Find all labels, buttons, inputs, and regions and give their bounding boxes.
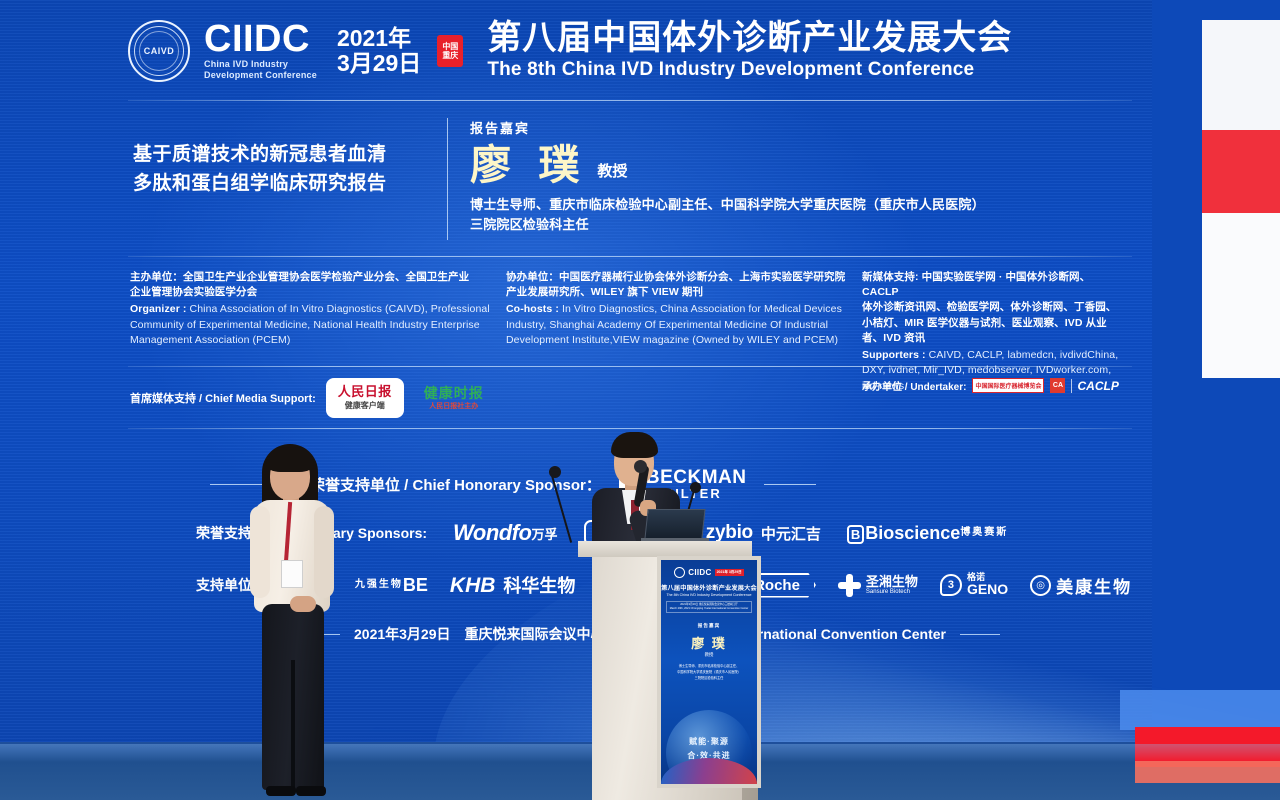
poster-date-badge: 2021年 3月29日 xyxy=(715,569,744,576)
geno-text: 格诺 GENO xyxy=(967,573,1008,597)
woman-hands xyxy=(290,596,316,612)
organizer-en-prefix: Organizer : xyxy=(130,303,187,315)
speaker-bio: 博士生导师、重庆市临床检验中心副主任、中国科学院大学重庆医院（重庆市人民医院） … xyxy=(470,195,1140,234)
poster-title-en: The 8th China IVD Industry Development C… xyxy=(666,593,751,597)
poster-brand: CIIDC xyxy=(688,568,711,577)
poster-guest-label: 报告嘉宾 xyxy=(698,623,720,629)
undertaker-label: 承办单位 / Undertaker: xyxy=(862,378,966,393)
info-columns: 主办单位：全国卫生产业企业管理协会医学检验产业分会、全国卫生产业 企业管理协会实… xyxy=(130,270,1140,394)
logo-wondfo: Wondfo 万孚 xyxy=(453,522,557,544)
podium-laptop-screen xyxy=(644,509,705,539)
sansure-sub: Sansure Biotech xyxy=(866,589,918,595)
logo-peoples-daily: 人民日报 健康客户端 xyxy=(326,378,404,418)
bioscience-name: BBioscience xyxy=(847,524,960,543)
supporters-cn-line1: 新媒体支持: 中国实验医学网 · 中国体外诊断网、CACLP xyxy=(862,270,1124,300)
poster-title-cn: 第八届中国体外诊断产业发展大会 xyxy=(661,583,757,592)
brand-block: CIIDC China IVD Industry Development Con… xyxy=(204,21,317,82)
venue-date: 2021年3月29日 xyxy=(354,624,451,644)
right-panel-white-bottom xyxy=(1202,213,1280,378)
sponsor-rule-left-1 xyxy=(210,484,262,485)
china-badge-line1: 中国 xyxy=(442,42,458,51)
logo-khb: KHB 科华生物 xyxy=(450,572,576,598)
divider-under-media xyxy=(128,428,1132,429)
cohosts-en: Co-hosts : In Vitro Diagnostics, China A… xyxy=(506,302,846,348)
poster-venue: 2021年3月29日 重庆悦来国际会议中心三楼两江厅 March 29th, 2… xyxy=(666,601,753,613)
logo-peoples-daily-name: 人民日报 xyxy=(338,385,392,399)
conference-day: 3月29日 xyxy=(337,51,421,76)
desk-microphone-right-head xyxy=(690,482,701,493)
bioscience-mark-icon: B xyxy=(847,525,864,544)
vertical-divider xyxy=(447,118,448,240)
wondfo-sub: 万孚 xyxy=(531,528,557,541)
zybio-sub: 中元汇吉 xyxy=(761,523,821,544)
sansure-cross-icon xyxy=(838,574,861,597)
speaker-name-row: 廖 璞 教授 xyxy=(470,145,1140,186)
caivd-seal-icon: CAIVD xyxy=(128,20,190,82)
talk-title-line1: 基于质谱技术的新冠患者血清 xyxy=(133,140,443,169)
speaker-bio-line2: 三院院区检验科主任 xyxy=(470,215,1140,235)
cohosts-cn-line1: 协办单位：中国医疗器械行业协会体外诊断分会、上海市实验医学研究院 xyxy=(506,270,846,285)
medicalsystem-name: 美康生物 xyxy=(1056,573,1132,598)
logo-caclp-mark: CA xyxy=(1050,378,1065,393)
organizer-cn-line2: 企业管理协会实验医学分会 xyxy=(130,285,490,300)
poster-venue-en: March 29th, 2021 Chongqing Yuelai Intern… xyxy=(670,607,749,611)
woman-arm-left xyxy=(250,506,270,598)
china-badge-line2: 重庆 xyxy=(442,51,458,60)
organizer-en: Organizer : China Association of In Vitr… xyxy=(130,302,490,348)
poster-slogan-line1: 赋能·聚源 xyxy=(661,736,757,747)
woman-name-badge xyxy=(281,560,303,588)
talk-title-line2: 多肽和蛋白组学临床研究报告 xyxy=(133,169,443,198)
supporters-cn-line2: 体外诊断资讯网、检验医学网、体外诊断网、丁香园、小桔灯、MIR 医学仪器与试剂、… xyxy=(862,300,1124,346)
poster-bio: 博士生导师、重庆市临床检验中心副主任、 中国科学院大学重庆医院（重庆市人民医院）… xyxy=(673,664,745,682)
logo-peoples-daily-sub: 健康客户端 xyxy=(345,402,385,411)
brand-subtitle: China IVD Industry Development Conferenc… xyxy=(204,59,317,82)
woman-shoe-left xyxy=(266,786,296,796)
conference-stage-photo: CAIVD CIIDC China IVD Industry Developme… xyxy=(0,0,1280,800)
brand-subtitle-line2: Development Conference xyxy=(204,70,317,81)
speaker-block: 报告嘉宾 廖 璞 教授 博士生导师、重庆市临床检验中心副主任、中国科学院大学重庆… xyxy=(470,118,1140,234)
geno-name: GENO xyxy=(967,582,1008,597)
logo-health-times: 健康时报 人民日报社主办 xyxy=(414,378,494,418)
man-hair xyxy=(611,432,658,458)
logo-geno: 3 格诺 GENO xyxy=(940,573,1008,597)
bioscience-name-text: Bioscience xyxy=(865,523,960,543)
brand-abbreviation: CIIDC xyxy=(204,21,317,57)
chief-media-support-label: 首席媒体支持 / Chief Media Support: xyxy=(130,390,316,406)
undertaker-row: 承办单位 / Undertaker: 中国国际医疗器械博览会 CA CACLP xyxy=(862,378,1119,393)
khb-name: KHB xyxy=(450,574,496,598)
venue-rule-right xyxy=(960,634,1000,635)
right-panel-white-top xyxy=(1202,20,1280,130)
right-band-blue xyxy=(1120,690,1280,730)
conference-header: CAIVD CIIDC China IVD Industry Developme… xyxy=(128,12,1128,90)
caivd-seal-text: CAIVD xyxy=(144,46,175,56)
bsbe-name: BE xyxy=(403,576,428,595)
supporters-en-prefix: Supporters : xyxy=(862,349,926,361)
logo-bioscience: BBioscience 博奥赛斯 xyxy=(847,524,1008,543)
logo-sansure: 圣湘生物 Sansure Biotech xyxy=(838,574,918,597)
divider-under-header xyxy=(128,100,1132,101)
woman-hair-front xyxy=(266,446,314,472)
logo-cmef-badge: 中国国际医疗器械博览会 xyxy=(972,378,1044,393)
right-panel-red xyxy=(1202,130,1280,213)
bsbe-sub: 九强生物 xyxy=(355,580,403,591)
podium-digital-poster: CIIDC 2021年 3月29日 第八届中国体外诊断产业发展大会 The 8t… xyxy=(657,556,761,788)
logo-bsbe: 九强生物 BE xyxy=(355,576,428,595)
info-column-organizer: 主办单位：全国卫生产业企业管理协会医学检验产业分会、全国卫生产业 企业管理协会实… xyxy=(130,270,506,394)
sansure-name: 圣湘生物 xyxy=(866,575,918,589)
geno-mark-icon: 3 xyxy=(940,574,962,596)
info-column-cohosts: 协办单位：中国医疗器械行业协会体外诊断分会、上海市实验医学研究院 产业发展研究所… xyxy=(506,270,862,394)
medicalsystem-mark-icon: ◎ xyxy=(1030,575,1051,596)
conference-year: 2021年 xyxy=(337,26,421,51)
china-badge-icon: 中国 重庆 xyxy=(437,35,463,67)
info-column-supporters: 新媒体支持: 中国实验医学网 · 中国体外诊断网、CACLP 体外诊断资讯网、检… xyxy=(862,270,1140,394)
khb-sub: 科华生物 xyxy=(503,572,575,598)
sponsor-rule-right-1 xyxy=(764,484,816,485)
cohosts-cn-line2: 产业发展研究所、WILEY 旗下 VIEW 期刊 xyxy=(506,285,846,300)
conference-title-cn: 第八届中国体外诊断产业发展大会 xyxy=(487,21,1012,57)
wondfo-name: Wondfo xyxy=(453,522,531,544)
woman-arm-right xyxy=(314,506,334,598)
speaker-label: 报告嘉宾 xyxy=(470,118,1140,137)
organizer-cn-line1: 主办单位：全国卫生产业企业管理协会医学检验产业分会、全国卫生产业 xyxy=(130,270,490,285)
poster-guest-rank: 教授 xyxy=(705,652,714,658)
poster-bio-line1: 博士生导师、重庆市临床检验中心副主任、 xyxy=(677,664,741,670)
speaker-bio-line1: 博士生导师、重庆市临床检验中心副主任、中国科学院大学重庆医院（重庆市人民医院） xyxy=(470,195,1140,215)
poster-bio-line3: 三院院区检验科主任 xyxy=(677,676,741,682)
logo-medicalsystem: ◎ 美康生物 xyxy=(1030,573,1132,598)
logo-caclp-text: CACLP xyxy=(1071,379,1118,393)
chief-media-support-row: 首席媒体支持 / Chief Media Support: 人民日报 健康客户端… xyxy=(130,378,494,418)
logo-health-times-name: 健康时报 xyxy=(424,386,484,401)
podium-top xyxy=(578,541,752,557)
cohosts-en-prefix: Co-hosts : xyxy=(506,303,559,315)
poster-seal-icon xyxy=(674,567,685,578)
divider-under-speaker xyxy=(128,256,1132,257)
poster-header: CIIDC 2021年 3月29日 xyxy=(674,567,743,578)
woman-leg-gap xyxy=(291,660,295,790)
logo-health-times-sub: 人民日报社主办 xyxy=(429,403,478,410)
poster-bio-line2: 中国科学院大学重庆医院（重庆市人民医院） xyxy=(677,670,741,676)
conference-title-en: The 8th China IVD Industry Development C… xyxy=(487,59,1012,81)
sansure-text: 圣湘生物 Sansure Biotech xyxy=(866,575,918,595)
talk-title: 基于质谱技术的新冠患者血清 多肽和蛋白组学临床研究报告 xyxy=(133,140,443,199)
handheld-microphone-head xyxy=(634,460,647,473)
bioscience-sub: 博奥赛斯 xyxy=(960,528,1008,539)
conference-date: 2021年 3月29日 xyxy=(337,26,421,76)
right-band-red-light xyxy=(1135,761,1280,783)
speaker-name: 廖 璞 xyxy=(470,145,587,186)
poster-guest-name: 廖 璞 xyxy=(691,633,727,652)
brand-subtitle-line1: China IVD Industry xyxy=(204,59,317,70)
speaker-rank: 教授 xyxy=(597,160,627,186)
woman-shoe-right xyxy=(296,786,326,796)
desk-microphone-left-head xyxy=(549,466,561,478)
conference-title-block: 第八届中国体外诊断产业发展大会 The 8th China IVD Indust… xyxy=(487,21,1012,81)
